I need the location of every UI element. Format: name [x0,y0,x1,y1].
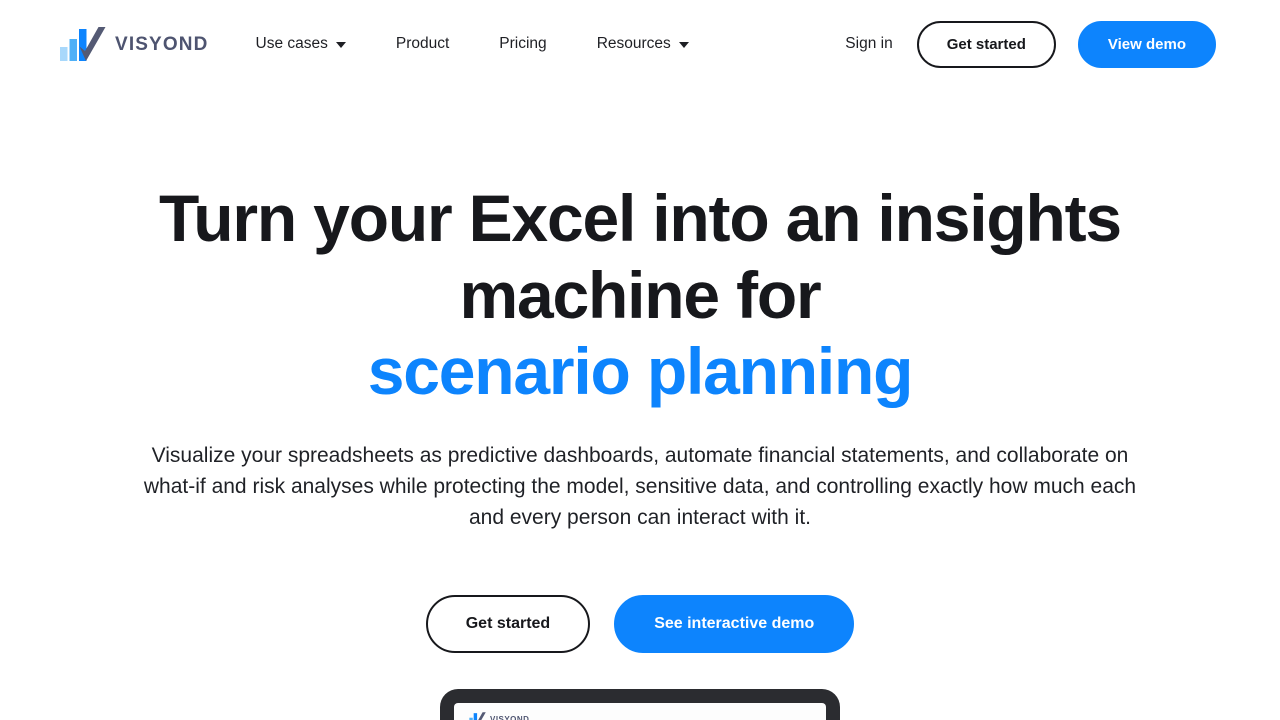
hero-section: Turn your Excel into an insights machine… [0,180,1280,720]
nav-item-label: Resources [597,35,671,53]
visyond-bar-check-logo-icon [60,27,106,61]
nav-item-label: Pricing [499,35,546,53]
hero-cta-group: Get started See interactive demo [70,595,1210,653]
product-screenshot-mockup: VISYOND [70,689,1210,720]
hero-headline-line-2: machine for [459,258,820,332]
device-screen-brand: VISYOND [465,712,815,720]
header-get-started-button[interactable]: Get started [917,21,1056,68]
visyond-bar-check-logo-icon [465,712,486,720]
hero-subtitle: Visualize your spreadsheets as predictiv… [140,440,1140,533]
chevron-down-icon [336,42,346,48]
device-frame: VISYOND [440,689,840,720]
main-navigation: Use cases Product Pricing Resources [231,25,714,63]
nav-item-product[interactable]: Product [371,25,474,63]
device-screen-wordmark: VISYOND [490,715,529,720]
hero-headline-accent: scenario planning [368,334,913,408]
hero-see-interactive-demo-button[interactable]: See interactive demo [614,595,854,653]
hero-headline: Turn your Excel into an insights machine… [70,180,1210,410]
sign-in-link[interactable]: Sign in [843,29,894,59]
nav-item-pricing[interactable]: Pricing [474,25,571,63]
nav-item-resources[interactable]: Resources [572,25,714,63]
brand-logo-link[interactable]: VISYOND [60,27,209,61]
site-header: VISYOND Use cases Product Pricing Resour… [0,0,1280,88]
hero-get-started-button[interactable]: Get started [426,595,590,653]
nav-item-use-cases[interactable]: Use cases [231,25,371,63]
device-screen: VISYOND [454,703,826,720]
nav-item-label: Product [396,35,449,53]
chevron-down-icon [679,42,689,48]
brand-wordmark: VISYOND [115,35,209,54]
header-view-demo-button[interactable]: View demo [1078,21,1216,68]
nav-item-label: Use cases [256,35,328,53]
hero-headline-line-1: Turn your Excel into an insights [159,181,1121,255]
header-actions: Sign in Get started View demo [843,21,1216,68]
